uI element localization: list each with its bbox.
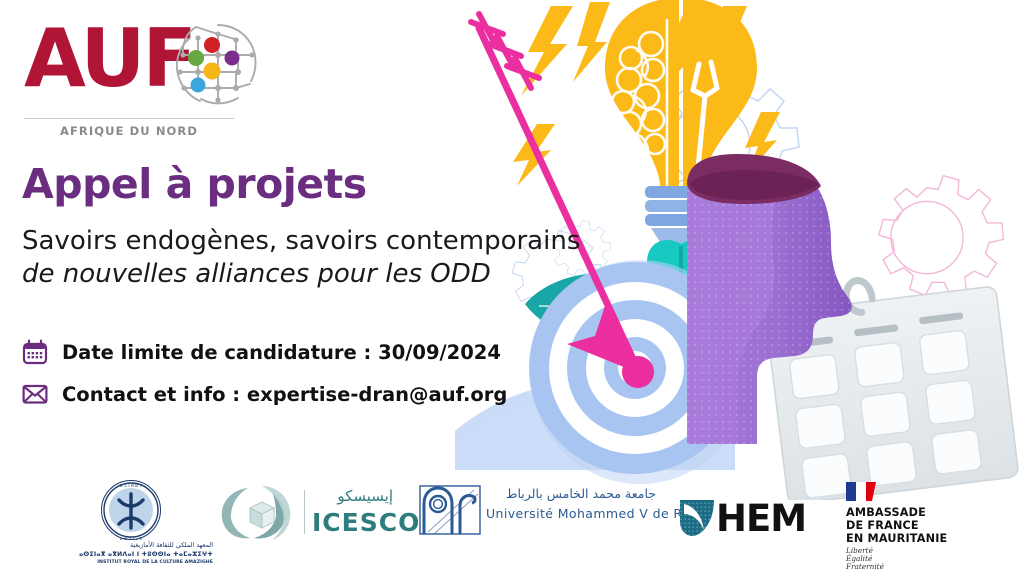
ircam-seal-icon: ⵣ ⵎ ⵏ ⵍ ⴽ ⵢ ⴰ ⵙ ⵉ ⵏ ⴰ ⴳ bbox=[98, 480, 164, 542]
auf-region-label: AFRIQUE DU NORD bbox=[24, 124, 234, 138]
icesco-divider bbox=[304, 490, 305, 534]
network-globe-icon bbox=[174, 22, 260, 108]
wall-calendar bbox=[763, 264, 1019, 500]
icesco-logo: إيسيسكو ICESCO bbox=[218, 484, 393, 546]
poster-canvas: AUF bbox=[0, 0, 1024, 576]
teal-leaves bbox=[525, 240, 837, 360]
ircam-logo: ⵣ ⵎ ⵏ ⵍ ⴽ ⵢ ⴰ ⵙ ⵉ ⵏ ⴰ ⴳ المعهد الملكي لل… bbox=[78, 480, 213, 572]
purple-head-profile bbox=[687, 154, 852, 444]
ircam-arabic-line: المعهد الملكي للثقافة الأمازيغية bbox=[78, 542, 213, 550]
pink-arrow bbox=[471, 14, 641, 374]
icesco-swirl-icon bbox=[218, 484, 298, 542]
ambassade-line-3: EN MAURITANIE bbox=[846, 532, 947, 545]
hem-leaf-icon bbox=[680, 498, 718, 538]
lightning-bolts bbox=[513, 2, 780, 186]
universite-mohammed-v-rabat-logo: جامعة محمد الخامس بالرباط Université Moh… bbox=[418, 482, 658, 544]
deadline-text: Date limite de candidature : 30/09/2024 bbox=[62, 341, 501, 364]
ambassade-line-2: DE FRANCE bbox=[846, 519, 919, 532]
contact-text: Contact et info : expertise-dran@auf.org bbox=[62, 383, 507, 406]
hem-logo: HEM bbox=[680, 498, 815, 542]
logo-divider bbox=[24, 118, 234, 119]
dartboard-target bbox=[529, 260, 750, 484]
um5-arabic: جامعة محمد الخامس بالرباط bbox=[486, 486, 656, 501]
subtitle-line-2: de nouvelles alliances pour les ODD bbox=[22, 259, 491, 289]
ambassade-line-1: AMBASSADE bbox=[846, 506, 926, 519]
brain-lightbulb bbox=[605, 0, 757, 256]
subtitle-line-1: Savoirs endogènes, savoirs contemporains bbox=[22, 226, 580, 256]
background-gear-pink bbox=[879, 176, 1004, 296]
um5-french: Université Mohammed V de Rabat bbox=[486, 506, 712, 521]
background-gears bbox=[512, 73, 799, 317]
ambassade-de-france-en-mauritanie-logo: AMBASSADE DE FRANCE EN MAURITANIE Libert… bbox=[846, 482, 976, 570]
hem-wordmark: HEM bbox=[716, 497, 806, 540]
page-title: Appel à projets bbox=[22, 160, 367, 208]
french-flag-icon bbox=[846, 482, 876, 501]
partner-logos-bar: ⵣ ⵎ ⵏ ⵍ ⴽ ⵢ ⴰ ⵙ ⵉ ⵏ ⴰ ⴳ المعهد الملكي لل… bbox=[0, 478, 1024, 576]
envelope-icon bbox=[22, 381, 48, 407]
icesco-arabic: إيسيسكو bbox=[313, 487, 393, 505]
ircam-tifinagh-line: ⴰⵙⵉⵏⴰⴳ ⴰⴳⵍⴷⴰⵏ ⵏ ⵜⵓⵙⵙⵏⴰ ⵜⴰⵎⴰⵣⵉⵖⵜ bbox=[78, 551, 213, 558]
contact-row: Contact et info : expertise-dran@auf.org bbox=[22, 381, 507, 407]
icesco-wordmark: ICESCO bbox=[312, 508, 420, 537]
ircam-french-line: INSTITUT ROYAL DE LA CULTURE AMAZIGHE bbox=[78, 560, 213, 565]
motto-fraternite: Fraternité bbox=[846, 562, 884, 571]
auf-wordmark: AUF bbox=[24, 18, 194, 100]
bulb-socket bbox=[645, 186, 717, 256]
auf-logo: AUF bbox=[24, 18, 239, 138]
deadline-row: Date limite de candidature : 30/09/2024 bbox=[22, 339, 501, 365]
um5-arch-icon bbox=[418, 482, 482, 536]
svg-text:ⵣ ⵎ ⵏ ⵍ ⴽ ⵢ: ⵣ ⵎ ⵏ ⵍ ⴽ ⵢ bbox=[120, 483, 143, 488]
calendar-icon bbox=[22, 339, 48, 365]
